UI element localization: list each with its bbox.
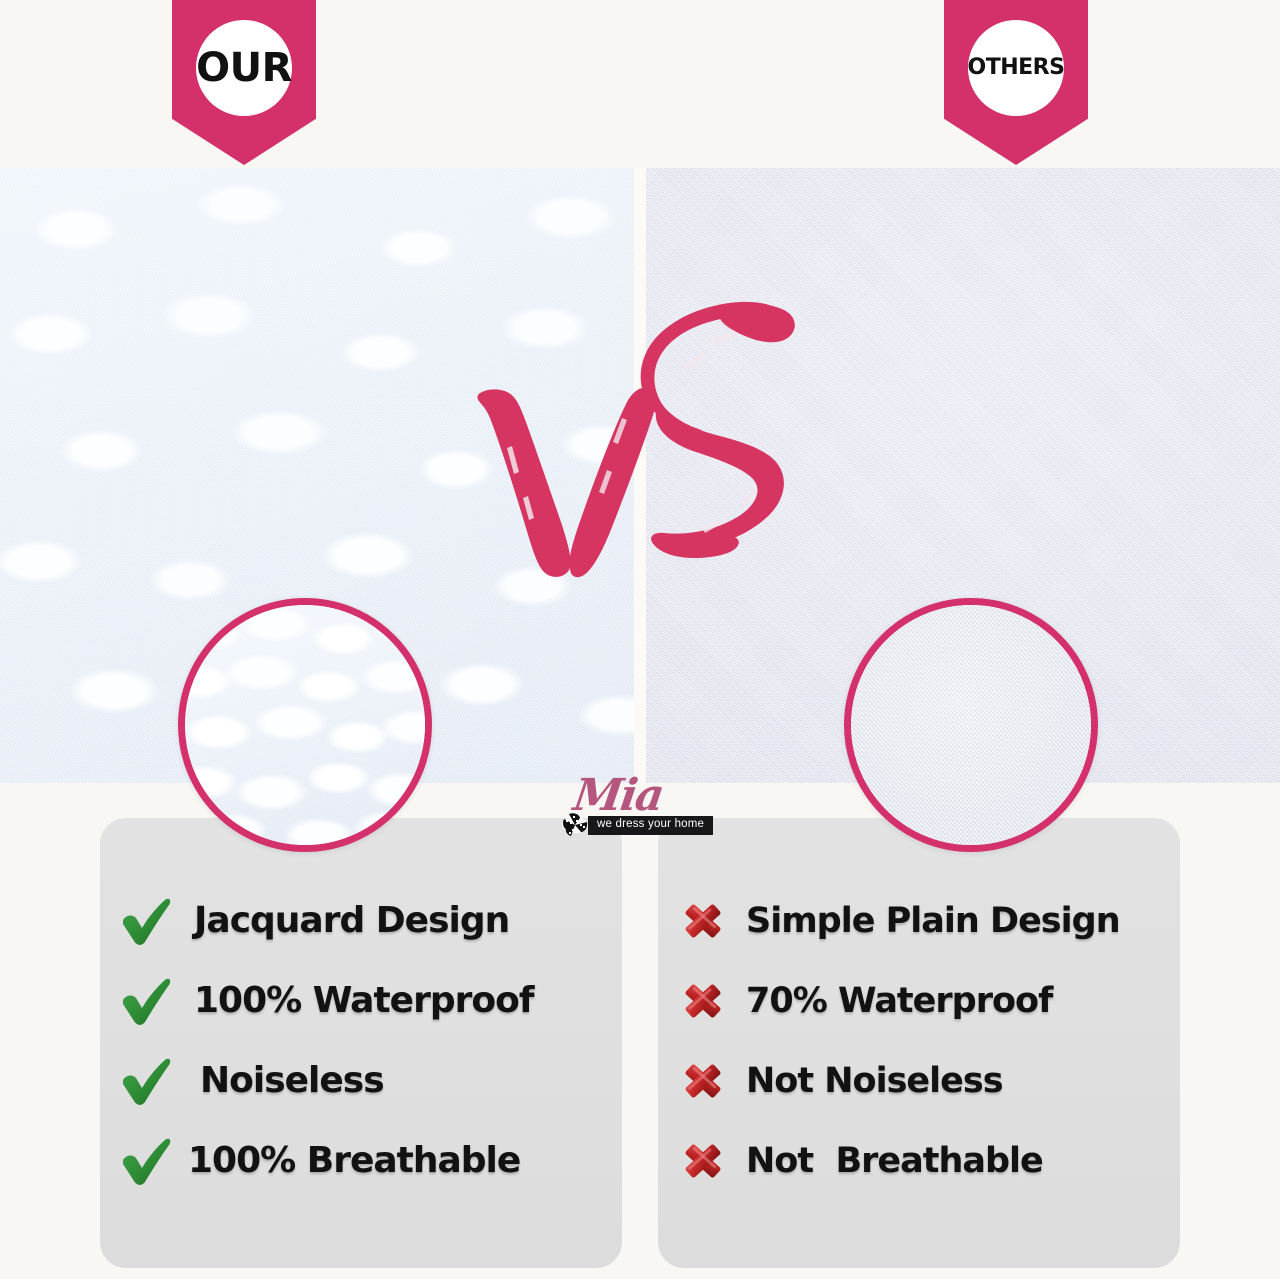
feature-label: Not Noiseless (746, 1064, 1003, 1099)
feature-label: Noiseless (200, 1063, 384, 1099)
feature-row: 70% Waterproof (676, 974, 1162, 1028)
comparison-cards: Jacquard Design 100% Waterproof Noiseles… (0, 818, 1280, 1270)
feature-row: Not Breathable (676, 1134, 1162, 1188)
badge-our-disc: OUR (196, 20, 292, 116)
brand-tagline: we dress your home (588, 816, 713, 835)
feature-row: 100% Breathable (118, 1134, 604, 1188)
jacquard-texture-magnified (185, 605, 425, 845)
check-icon (118, 976, 172, 1026)
badge-others: OTHERS (944, 0, 1088, 165)
card-our-features: Jacquard Design 100% Waterproof Noiseles… (100, 818, 622, 1268)
feature-label: Jacquard Design (194, 903, 509, 939)
brand-logo: Mia we dress your home (556, 778, 724, 840)
check-icon (118, 1056, 172, 1106)
badge-others-disc: OTHERS (968, 20, 1064, 116)
check-icon (118, 896, 172, 946)
feature-label: 70% Waterproof (746, 984, 1052, 1019)
feature-row: Not Noiseless (676, 1054, 1162, 1108)
feature-label: Simple Plain Design (746, 904, 1120, 939)
zoom-inset-others (844, 598, 1098, 852)
feature-label: 100% Breathable (188, 1143, 520, 1179)
cross-icon (676, 976, 730, 1026)
feature-row: Jacquard Design (118, 894, 604, 948)
panel-divider (634, 168, 646, 783)
feature-row: Noiseless (118, 1054, 604, 1108)
card-others-features: Simple Plain Design 70% Waterproof (658, 818, 1180, 1268)
feature-label: Not Breathable (746, 1144, 1043, 1179)
feature-row: Simple Plain Design (676, 894, 1162, 948)
feature-label: 100% Waterproof (194, 983, 534, 1019)
cross-icon (676, 1056, 730, 1106)
cross-icon (676, 896, 730, 946)
infographic-root: OUR OTHERS (0, 0, 1280, 1279)
badge-our-label: OUR (196, 48, 292, 88)
badge-others-label: OTHERS (968, 57, 1065, 79)
feature-row: 100% Waterproof (118, 974, 604, 1028)
floral-checker-icon (560, 811, 590, 839)
check-icon (118, 1136, 172, 1186)
badge-our: OUR (172, 0, 316, 165)
zoom-inset-our-image (185, 605, 425, 845)
plain-texture-magnified (851, 605, 1091, 845)
zoom-inset-others-image (851, 605, 1091, 845)
cross-icon (676, 1136, 730, 1186)
zoom-inset-our (178, 598, 432, 852)
